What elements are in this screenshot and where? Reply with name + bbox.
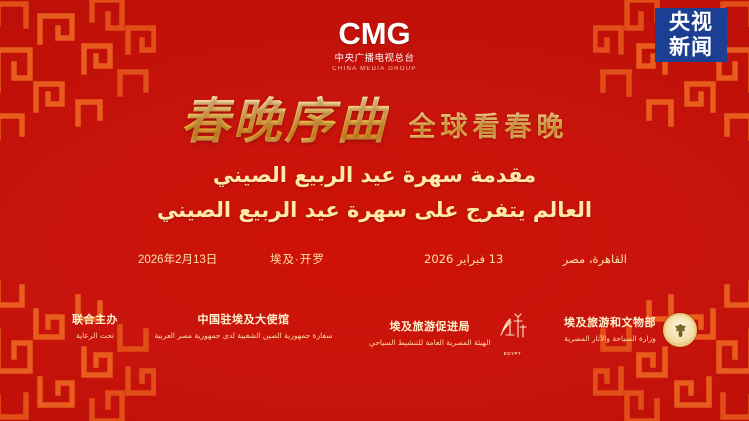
sponsor-label-cn: 埃及旅游促进局 (369, 320, 491, 336)
sponsor-label-ar: سفارة جمهورية الصين الشعبية لدى جمهورية … (154, 331, 332, 342)
sponsor-item-tourism-authority: 埃及旅游促进局 الهيئة المصرية العامة للتنشيط ال… (369, 313, 528, 356)
cctv-news-badge: 央视 新闻 (655, 8, 727, 62)
page-subtitle: 全球看春晚 (409, 99, 569, 144)
cmg-logo-cn-label: 中央广播电视总台 (310, 54, 440, 64)
sponsor-item-ministry: 埃及旅游和文物部 وزارة السياحة والآثار المصرية (564, 313, 697, 347)
sponsor-item-embassy: 中国驻埃及大使馆 سفارة جمهورية الصين الشعبية لدى… (154, 313, 332, 342)
cmg-logo-en-label: CHINA MEDIA GROUP (310, 66, 440, 72)
page-title: 春晚序曲 (180, 96, 388, 147)
egypt-ministry-emblem (663, 313, 697, 347)
event-info-row: 2026年2月13日 埃及·开罗 13 فبراير 2026 القاهرة،… (0, 250, 749, 268)
cctv-news-badge-line1: 央视 (669, 12, 713, 33)
cmg-logo: CMG 中央广播电视总台 CHINA MEDIA GROUP (310, 18, 440, 72)
event-date-cn: 2026年2月13日 (138, 251, 217, 267)
title-block: 春晚序曲 全球看春晚 (0, 96, 749, 147)
cmg-logo-icon: CMG (310, 18, 440, 49)
event-date-ar: 13 فبراير 2026 (424, 252, 503, 266)
event-location-ar: القاهرة، مصر (563, 252, 627, 266)
sponsor-item-organizer: 联合主办 تحت الرعاية (72, 313, 118, 342)
sponsor-label-ar: وزارة السياحة والآثار المصرية (564, 334, 656, 345)
experience-egypt-logo: EGYPT (498, 313, 528, 356)
arabic-title-line-1: مقدمة سهرة عيد الربيع الصيني (0, 163, 749, 187)
sponsor-label-cn: 中国驻埃及大使馆 (154, 313, 332, 329)
arabic-title-line-2: العالم يتفرج على سهرة عيد الربيع الصيني (0, 198, 749, 222)
cctv-news-badge-line2: 新闻 (669, 37, 713, 58)
eagle-of-saladin-icon (672, 322, 689, 339)
poster-canvas: CMG 中央广播电视总台 CHINA MEDIA GROUP 央视 新闻 春晚序… (0, 0, 749, 421)
sponsor-label-cn: 联合主办 (72, 313, 118, 329)
sponsor-label-cn: 埃及旅游和文物部 (564, 316, 656, 332)
egypt-ministry-emblem-icon (663, 313, 697, 347)
experience-egypt-logo-icon (498, 313, 528, 345)
event-location-cn: 埃及·开罗 (270, 251, 325, 267)
sponsor-label-ar: تحت الرعاية (72, 331, 118, 342)
sponsor-footer: 联合主办 تحت الرعاية 中国驻埃及大使馆 سفارة جمهورية … (72, 313, 697, 356)
sponsor-label-ar: الهيئة المصرية العامة للتنشيط السياحي (369, 338, 491, 349)
experience-egypt-wordmark: EGYPT (498, 351, 528, 356)
